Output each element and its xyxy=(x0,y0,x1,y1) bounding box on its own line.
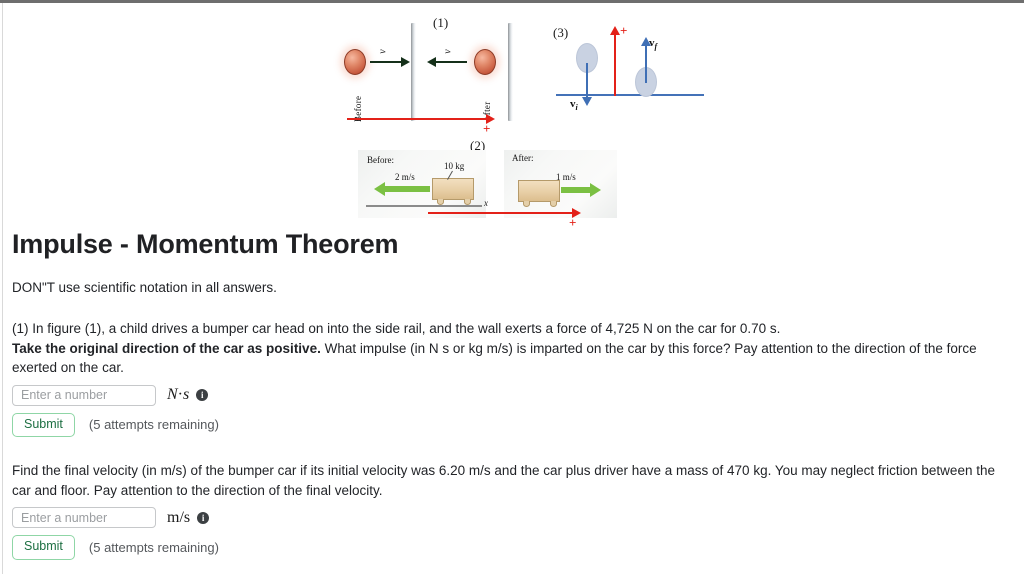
figure-2-velocity-arrow-after xyxy=(561,187,591,193)
figure-2-cart: (2) Before: After: 2 m/s 1 m/s 10 kg x + xyxy=(358,138,620,225)
question-1-unit-label: N·s xyxy=(167,386,189,404)
figure-1-ball-after xyxy=(474,49,496,75)
question-2-submit-row: Submit (5 attempts remaining) xyxy=(12,535,1012,560)
figure-3-number: (3) xyxy=(553,25,568,41)
page-title: Impulse - Momentum Theorem xyxy=(12,228,1012,260)
figure-3-positive-axis xyxy=(614,34,616,96)
figure-2-mass-label: 10 kg xyxy=(444,161,464,171)
figure-panel: (1) v v Before After + (3) vi vf + (2) B… xyxy=(0,3,1024,225)
figure-3-initial-velocity-label: vi xyxy=(570,98,578,112)
figure-1-number: (1) xyxy=(433,15,448,31)
figure-1-wall-right xyxy=(508,23,513,121)
figure-2-cart-after xyxy=(518,180,560,202)
submit-button[interactable]: Submit xyxy=(12,413,75,438)
figure-2-cart-before xyxy=(432,178,474,200)
figure-1-ball-wall-collision: (1) v v Before After + xyxy=(340,15,525,127)
figure-1-ball-before xyxy=(344,49,366,75)
question-1-line-1: (1) In figure (1), a child drives a bump… xyxy=(12,321,780,336)
figure-3-initial-velocity-arrow xyxy=(586,63,588,98)
figure-3-bounce: (3) vi vf + xyxy=(548,15,708,115)
figure-3-ground-line xyxy=(556,94,704,96)
figure-1-wall-left xyxy=(411,23,416,121)
question-2-answer-input[interactable] xyxy=(12,507,156,528)
figure-2-speed-after-label: 1 m/s xyxy=(556,172,576,182)
figure-1-velocity-arrow-before xyxy=(370,61,402,63)
figure-1-positive-axis xyxy=(347,118,487,120)
scientific-notation-notice: DON"T use scientific notation in all ans… xyxy=(12,278,1012,298)
info-icon[interactable]: i xyxy=(197,512,209,524)
question-2-text: Find the final velocity (in m/s) of the … xyxy=(12,461,1012,500)
figure-3-final-velocity-arrow xyxy=(645,45,647,83)
question-1-answer-row: N·s i xyxy=(12,385,1012,406)
question-1-unit-newton: N xyxy=(167,386,178,403)
question-1-attempts-remaining: (5 attempts remaining) xyxy=(89,417,219,432)
info-icon[interactable]: i xyxy=(196,389,208,401)
figure-2-velocity-arrow-before xyxy=(384,186,430,192)
figure-3-final-velocity-label: vf xyxy=(649,37,657,51)
question-2-unit-label: m/s xyxy=(167,509,190,527)
figure-1-plus-sign: + xyxy=(483,122,490,135)
question-1-answer-input[interactable] xyxy=(12,385,156,406)
question-1-unit-second: s xyxy=(183,386,189,403)
submit-button[interactable]: Submit xyxy=(12,535,75,560)
figure-2-speed-before-label: 2 m/s xyxy=(395,172,415,182)
question-1-submit-row: Submit (5 attempts remaining) xyxy=(12,413,1012,438)
figure-2-cart-after-wheel-left xyxy=(523,201,530,207)
figure-2-x-axis-label: x xyxy=(484,198,488,208)
figure-2-before-label: Before: xyxy=(367,155,394,165)
question-2-attempts-remaining: (5 attempts remaining) xyxy=(89,540,219,555)
figure-2-cart-after-wheel-right xyxy=(550,201,557,207)
figure-1-velocity-label-after: v xyxy=(443,49,454,53)
problem-content: Impulse - Momentum Theorem DON"T use sci… xyxy=(12,228,1012,560)
question-2-answer-row: m/s i xyxy=(12,507,1012,528)
figure-2-after-label: After: xyxy=(512,153,534,163)
figure-2-positive-axis xyxy=(428,212,573,214)
question-1-bold-instruction: Take the original direction of the car a… xyxy=(12,341,321,356)
figure-3-plus-sign: + xyxy=(620,24,627,37)
figure-2-ground-line xyxy=(366,205,482,207)
figure-1-velocity-arrow-after xyxy=(435,61,467,63)
question-1-text: (1) In figure (1), a child drives a bump… xyxy=(12,319,1012,378)
figure-1-velocity-label-before: v xyxy=(378,49,389,53)
